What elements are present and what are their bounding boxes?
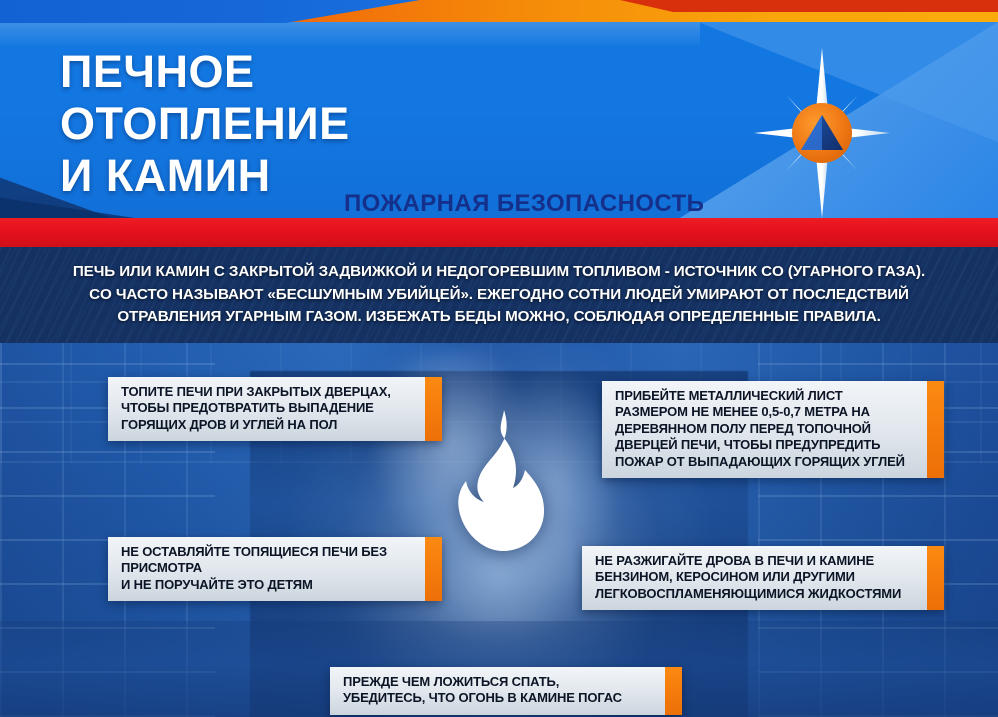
tip-box-3-accent-bar	[425, 537, 442, 601]
title-line-1: ПЕЧНОЕ	[60, 46, 350, 98]
tip-box-3-line-1: НЕ ОСТАВЛЯЙТЕ ТОПЯЩИЕСЯ ПЕЧИ БЕЗ	[121, 544, 415, 560]
tip-box-1[interactable]: ТОПИТЕ ПЕЧИ ПРИ ЗАКРЫТЫХ ДВЕРЦАХ, ЧТОБЫ …	[108, 377, 442, 441]
tip-box-1-text: ТОПИТЕ ПЕЧИ ПРИ ЗАКРЫТЫХ ДВЕРЦАХ, ЧТОБЫ …	[108, 377, 425, 441]
tip-box-4-text: НЕ РАЗЖИГАЙТЕ ДРОВА В ПЕЧИ И КАМИНЕ БЕНЗ…	[582, 546, 927, 610]
tip-box-3[interactable]: НЕ ОСТАВЛЯЙТЕ ТОПЯЩИЕСЯ ПЕЧИ БЕЗ ПРИСМОТ…	[108, 537, 442, 601]
intro-line-3: ОТРАВЛЕНИЯ УГАРНЫМ ГАЗОМ. ИЗБЕЖАТЬ БЕДЫ …	[117, 308, 880, 325]
tip-box-2-text: ПРИБЕЙТЕ МЕТАЛЛИЧЕСКИЙ ЛИСТ РАЗМЕРОМ НЕ …	[602, 381, 927, 478]
title-line-2: ОТОПЛЕНИЕ	[60, 98, 350, 150]
tip-box-5-accent-bar	[665, 667, 682, 715]
page-subtitle: ПОЖАРНАЯ БЕЗОПАСНОСТЬ	[344, 190, 704, 218]
tip-box-2-line-3: ДЕРЕВЯННОМ ПОЛУ ПЕРЕД ТОПОЧНОЙ	[615, 421, 917, 437]
tip-box-4-accent-bar	[927, 546, 944, 610]
tip-box-1-accent-bar	[425, 377, 442, 441]
tip-box-5-line-2: УБЕДИТЕСЬ, ЧТО ОГОНЬ В КАМИНЕ ПОГАС	[343, 690, 655, 706]
page-title: ПЕЧНОЕ ОТОПЛЕНИЕ И КАМИН	[60, 46, 350, 202]
tip-box-2-line-4: ДВЕРЦЕЙ ПЕЧИ, ЧТОБЫ ПРЕДУПРЕДИТЬ	[615, 437, 917, 453]
title-line-3: И КАМИН	[60, 150, 350, 202]
tip-box-5-line-1: ПРЕЖДЕ ЧЕМ ЛОЖИТЬСЯ СПАТЬ,	[343, 674, 655, 690]
tip-box-5-text: ПРЕЖДЕ ЧЕМ ЛОЖИТЬСЯ СПАТЬ, УБЕДИТЕСЬ, ЧТ…	[330, 667, 665, 715]
tip-box-2-line-5: ПОЖАР ОТ ВЫПАДАЮЩИХ ГОРЯЩИХ УГЛЕЙ	[615, 454, 917, 470]
tip-box-4-line-1: НЕ РАЗЖИГАЙТЕ ДРОВА В ПЕЧИ И КАМИНЕ	[595, 553, 917, 569]
tip-box-2-line-2: РАЗМЕРОМ НЕ МЕНЕЕ 0,5-0,7 МЕТРА НА	[615, 404, 917, 420]
poster-root: ПЕЧНОЕ ОТОПЛЕНИЕ И КАМИН ПОЖАРНАЯ БЕЗОПА…	[0, 0, 998, 717]
tip-box-2-accent-bar	[927, 381, 944, 478]
header-sheen	[0, 22, 700, 48]
tip-box-3-line-3: И НЕ ПОРУЧАЙТЕ ЭТО ДЕТЯМ	[121, 577, 415, 593]
flame-icon	[455, 408, 547, 553]
intro-paragraph: ПЕЧЬ ИЛИ КАМИН С ЗАКРЫТОЙ ЗАДВИЖКОЙ И НЕ…	[0, 247, 998, 329]
tip-box-2[interactable]: ПРИБЕЙТЕ МЕТАЛЛИЧЕСКИЙ ЛИСТ РАЗМЕРОМ НЕ …	[602, 381, 944, 478]
tip-box-4[interactable]: НЕ РАЗЖИГАЙТЕ ДРОВА В ПЕЧИ И КАМИНЕ БЕНЗ…	[582, 546, 944, 610]
intro-band: ПЕЧЬ ИЛИ КАМИН С ЗАКРЫТОЙ ЗАДВИЖКОЙ И НЕ…	[0, 247, 998, 343]
tip-box-4-line-3: ЛЕГКОВОСПЛАМЕНЯЮЩИМИСЯ ЖИДКОСТЯМИ	[595, 586, 917, 602]
tip-box-1-line-2: ЧТОБЫ ПРЕДОТВРАТИТЬ ВЫПАДЕНИЕ	[121, 400, 415, 416]
red-divider-band	[0, 218, 998, 247]
emercom-star-logo	[752, 48, 892, 218]
tip-box-1-line-3: ГОРЯЩИХ ДРОВ И УГЛЕЙ НА ПОЛ	[121, 417, 415, 433]
intro-line-2: CO ЧАСТО НАЗЫВАЮТ «БЕСШУМНЫМ УБИЙЦЕЙ». Е…	[89, 286, 909, 303]
tip-box-1-line-1: ТОПИТЕ ПЕЧИ ПРИ ЗАКРЫТЫХ ДВЕРЦАХ,	[121, 384, 415, 400]
tip-box-3-text: НЕ ОСТАВЛЯЙТЕ ТОПЯЩИЕСЯ ПЕЧИ БЕЗ ПРИСМОТ…	[108, 537, 425, 601]
intro-line-1: ПЕЧЬ ИЛИ КАМИН С ЗАКРЫТОЙ ЗАДВИЖКОЙ И НЕ…	[73, 263, 925, 280]
tip-box-5[interactable]: ПРЕЖДЕ ЧЕМ ЛОЖИТЬСЯ СПАТЬ, УБЕДИТЕСЬ, ЧТ…	[330, 667, 682, 715]
top-red-wedge	[620, 0, 998, 12]
tip-box-2-line-1: ПРИБЕЙТЕ МЕТАЛЛИЧЕСКИЙ ЛИСТ	[615, 388, 917, 404]
tip-box-3-line-2: ПРИСМОТРА	[121, 560, 415, 576]
header-banner: ПЕЧНОЕ ОТОПЛЕНИЕ И КАМИН ПОЖАРНАЯ БЕЗОПА…	[0, 22, 998, 218]
tip-box-4-line-2: БЕНЗИНОМ, КЕРОСИНОМ ИЛИ ДРУГИМИ	[595, 569, 917, 585]
